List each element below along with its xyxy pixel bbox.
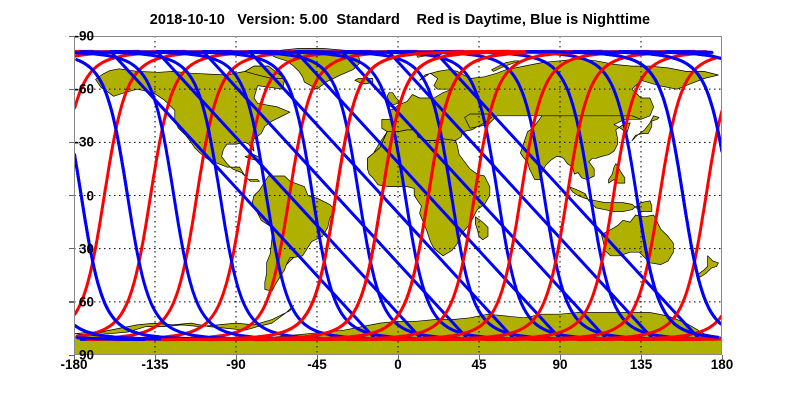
y-axis-tick-label: 30 <box>79 241 94 256</box>
y-axis-tick-mark <box>69 248 74 249</box>
x-axis-tick-mark <box>398 355 399 360</box>
x-axis-tick-mark <box>641 355 642 360</box>
x-axis-tick-mark <box>317 355 318 360</box>
y-axis-tick-mark <box>69 89 74 90</box>
x-axis-tick-mark <box>155 355 156 360</box>
y-axis-tick-mark <box>69 142 74 143</box>
land-madagascar <box>475 217 488 240</box>
figure-title: 2018-10-10 Version: 5.00 Standard Red is… <box>0 12 800 28</box>
ground-track-map-figure: 2018-10-10 Version: 5.00 Standard Red is… <box>0 0 800 400</box>
x-axis-tick-mark <box>74 355 75 360</box>
plot-area <box>74 36 722 355</box>
y-axis-tick-label: 0 <box>86 188 94 203</box>
y-axis-tick-label: -30 <box>74 135 94 150</box>
y-axis-tick-mark <box>69 301 74 302</box>
x-axis-tick-mark <box>722 355 723 360</box>
y-axis-tick-label: -90 <box>74 29 94 44</box>
x-axis-tick-mark <box>560 355 561 360</box>
y-axis-tick-mark <box>69 195 74 196</box>
ground-track-nighttime <box>75 155 82 196</box>
ground-track-nighttime <box>78 338 145 340</box>
land-australia <box>601 215 673 265</box>
land-new-zealand <box>697 256 719 277</box>
y-axis-tick-label: -60 <box>74 82 94 97</box>
x-axis-tick-mark <box>236 355 237 360</box>
x-axis-tick-mark <box>479 355 480 360</box>
y-axis-tick-label: 60 <box>79 294 94 309</box>
y-axis-tick-mark <box>69 36 74 37</box>
map-canvas <box>74 36 722 355</box>
